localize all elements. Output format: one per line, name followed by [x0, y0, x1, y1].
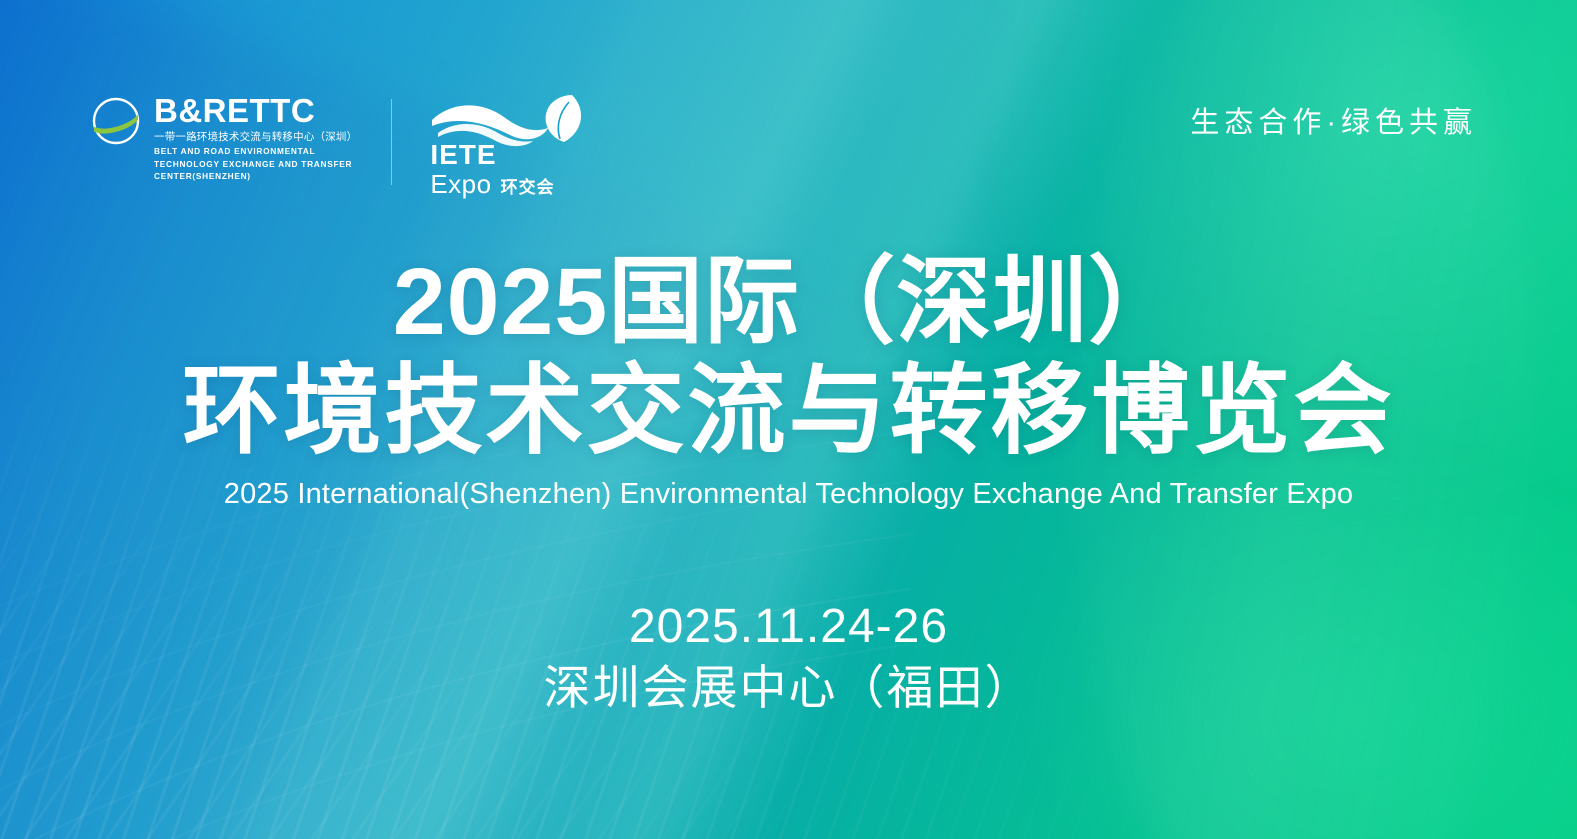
event-banner: B&RETTC 一带一路环境技术交流与转移中心（深圳） BELT AND ROA… [0, 0, 1577, 839]
circle-band-icon [88, 95, 144, 147]
brettc-text-block: B&RETTC 一带一路环境技术交流与转移中心（深圳） BELT AND ROA… [154, 93, 357, 182]
brettc-english-line-3: CENTER(SHENZHEN) [154, 171, 357, 182]
logo-divider [391, 99, 392, 185]
event-details-block: 2025.11.24-26 深圳会展中心（福田） [0, 596, 1577, 718]
banner-header: B&RETTC 一带一路环境技术交流与转移中心（深圳） BELT AND ROA… [0, 0, 1577, 210]
slogan-text: 生态合作·绿色共赢 [1190, 105, 1477, 141]
title-line-1: 2025国际（深圳） [0, 250, 1577, 354]
brettc-title: B&RETTC [154, 93, 357, 128]
main-title-block: 2025国际（深圳） 环境技术交流与转移博览会 2025 Internation… [0, 250, 1577, 512]
subtitle-english: 2025 International(Shenzhen) Environment… [0, 476, 1577, 512]
iete-acronym: IETE [430, 140, 554, 169]
event-date: 2025.11.24-26 [0, 596, 1577, 658]
iete-wordmark: IETE Expo 环交会 [430, 140, 554, 199]
brettc-english-line-1: BELT AND ROAD ENVIRONMENTAL [154, 146, 357, 157]
iete-expo-logo: IETE Expo 环交会 [426, 93, 586, 197]
title-line-2: 环境技术交流与转移博览会 [0, 354, 1577, 466]
brettc-logo: B&RETTC 一带一路环境技术交流与转移中心（深圳） BELT AND ROA… [88, 93, 357, 182]
event-venue: 深圳会展中心（福田） [0, 658, 1577, 718]
brettc-english-line-2: TECHNOLOGY EXCHANGE AND TRANSFER [154, 159, 357, 170]
logo-group: B&RETTC 一带一路环境技术交流与转移中心（深圳） BELT AND ROA… [88, 93, 586, 197]
brettc-chinese-name: 一带一路环境技术交流与转移中心（深圳） [154, 130, 357, 144]
iete-subline: Expo 环交会 [430, 170, 554, 199]
iete-expo-word: Expo [430, 170, 491, 198]
iete-chinese-short: 环交会 [501, 177, 555, 199]
